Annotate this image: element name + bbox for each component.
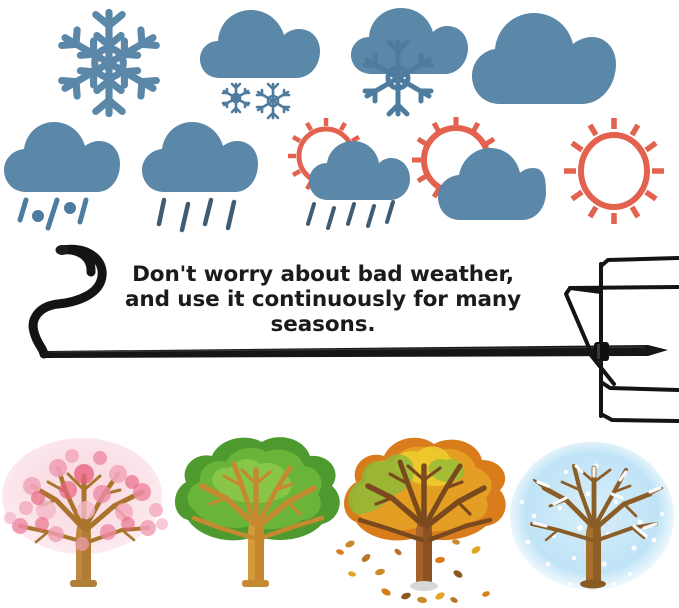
cloud-with-snow-icon [198,4,322,118]
autumn-tree [336,424,506,608]
anchor-collar [594,342,609,361]
product-band: Don't worry about bad weather, and use i… [0,232,679,427]
wire-ground-anchor [566,258,678,421]
weather-icon-band [0,0,679,232]
product-infographic: Don't worry about bad weather, and use i… [0,0,679,608]
cloud-with-rain-icon [140,120,264,232]
cloud-icon [470,10,618,110]
hook-tip-cap [56,245,69,255]
summer-tree [168,424,338,608]
sun-cloud-rain-icon [274,116,414,230]
cloud-with-heavy-snow-icon [348,4,472,120]
winter-tree [504,424,674,608]
straight-rod-shaft [41,345,668,358]
snowflake-icon [54,8,164,118]
falling-leaves [335,538,490,604]
spring-tree [0,424,166,608]
sun-behind-cloud-icon [400,116,548,228]
sun-icon [556,116,672,226]
cloud-with-sleet-icon [2,120,126,232]
four-seasons-band [0,424,679,608]
product-tagline: Don't worry about bad weather, and use i… [78,262,568,337]
